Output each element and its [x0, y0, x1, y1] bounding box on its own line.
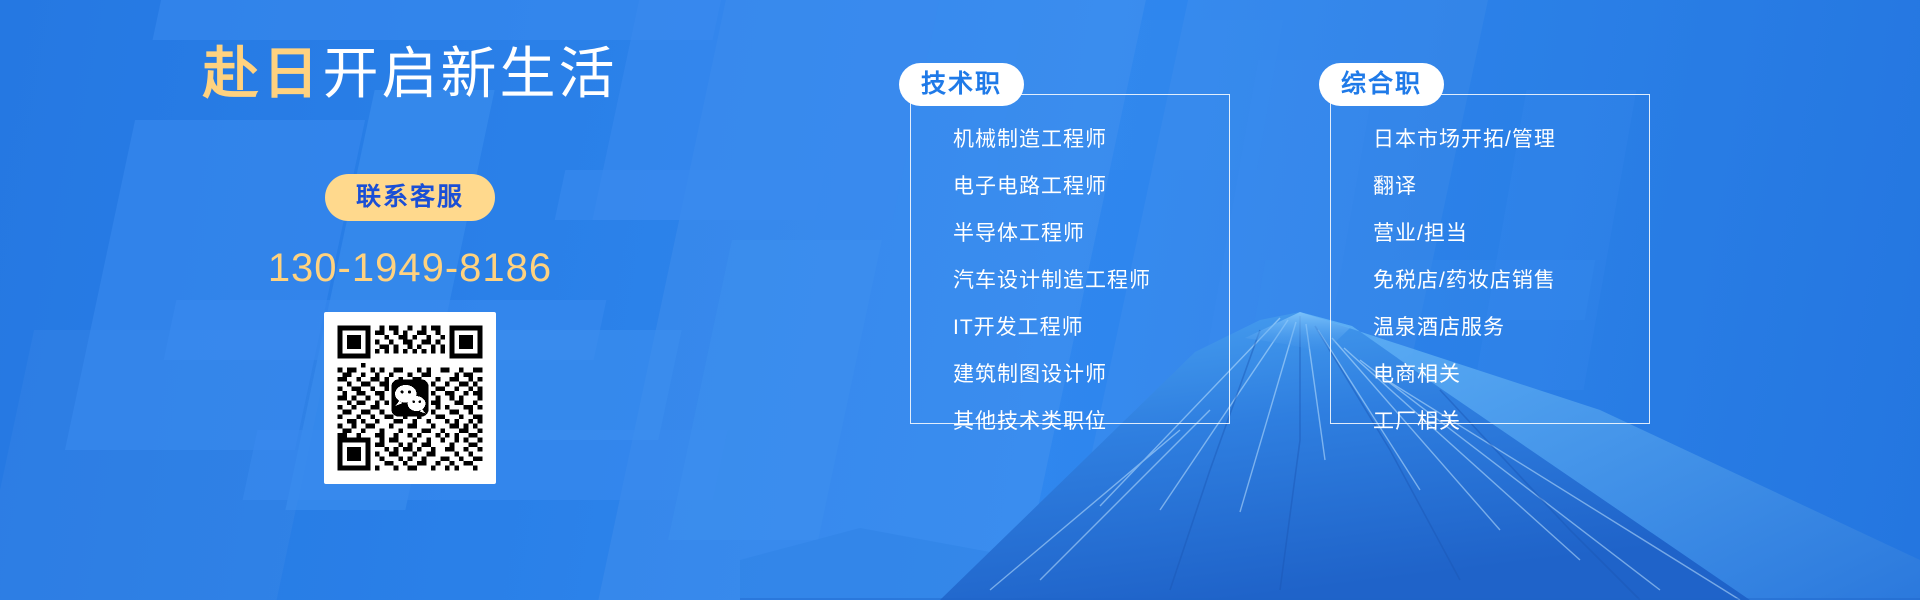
- list-item[interactable]: 汽车设计制造工程师: [953, 270, 1229, 291]
- list-item[interactable]: IT开发工程师: [953, 317, 1229, 338]
- list-item[interactable]: 翻译: [1373, 176, 1649, 197]
- wechat-qr-code[interactable]: [324, 312, 496, 484]
- page-title: 赴日开启新生活: [203, 46, 618, 102]
- list-item[interactable]: 营业/担当: [1373, 223, 1649, 244]
- list-item[interactable]: 免税店/药妆店销售: [1373, 270, 1649, 291]
- list-item[interactable]: 工厂相关: [1373, 411, 1649, 432]
- list-item[interactable]: 电商相关: [1373, 364, 1649, 385]
- contact-support-button[interactable]: 联系客服: [325, 174, 495, 221]
- list-item[interactable]: 电子电路工程师: [953, 176, 1229, 197]
- list-item[interactable]: 其他技术类职位: [953, 411, 1229, 432]
- list-item[interactable]: 建筑制图设计师: [953, 364, 1229, 385]
- list-item[interactable]: 半导体工程师: [953, 223, 1229, 244]
- panel-technical-jobs: 技术职 机械制造工程师 电子电路工程师 半导体工程师 汽车设计制造工程师 IT开…: [910, 94, 1230, 424]
- technical-jobs-list: 机械制造工程师 电子电路工程师 半导体工程师 汽车设计制造工程师 IT开发工程师…: [911, 95, 1229, 432]
- general-jobs-list: 日本市场开拓/管理 翻译 营业/担当 免税店/药妆店销售 温泉酒店服务 电商相关…: [1331, 95, 1649, 432]
- promo-banner: 赴日开启新生活 联系客服 130-1949-8186: [0, 0, 1920, 600]
- panel-general-jobs: 综合职 日本市场开拓/管理 翻译 营业/担当 免税店/药妆店销售 温泉酒店服务 …: [1330, 94, 1650, 424]
- headline-rest: 开启新生活: [323, 42, 618, 105]
- list-item[interactable]: 日本市场开拓/管理: [1373, 129, 1649, 150]
- panel-badge-general: 综合职: [1319, 63, 1444, 106]
- headline-highlight: 赴日: [203, 42, 323, 105]
- list-item[interactable]: 机械制造工程师: [953, 129, 1229, 150]
- left-content-column: 赴日开启新生活 联系客服 130-1949-8186: [0, 0, 820, 600]
- qr-code-icon: [333, 321, 487, 475]
- panel-badge-technical: 技术职: [899, 63, 1024, 106]
- phone-number[interactable]: 130-1949-8186: [268, 248, 552, 288]
- list-item[interactable]: 温泉酒店服务: [1373, 317, 1649, 338]
